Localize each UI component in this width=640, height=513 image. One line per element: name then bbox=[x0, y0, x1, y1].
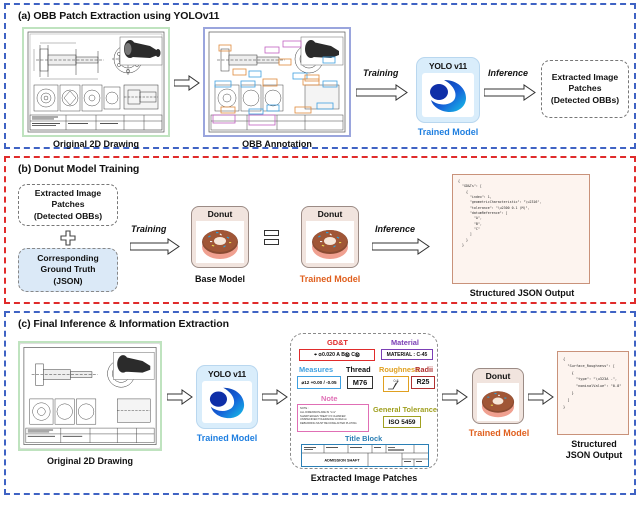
patch-label-title-block: Title Block bbox=[345, 434, 382, 443]
patch-value-measures: ⌀12 +0.00 / -0.05 bbox=[297, 376, 341, 389]
extracted-patches-line3: (Detected OBBs) bbox=[551, 95, 619, 106]
extracted-patches-container: GD&T ⌖ ⌀0.020 A BⓂ CⓂ Material MATERIAL … bbox=[290, 333, 438, 469]
equals-icon bbox=[264, 230, 279, 245]
panel-a: (a) OBB Patch Extraction using YOLOv11 bbox=[4, 3, 636, 149]
caption-extracted-patches: Extracted Image Patches bbox=[284, 473, 444, 483]
input-patches-box-b: Extracted Image Patches (Detected OBBs) bbox=[18, 184, 118, 226]
caption-json-output-b: Structured JSON Output bbox=[446, 288, 598, 298]
patch-value-note: NOTE : ALL DIMENSION ARE IN "mm" SHARP E… bbox=[297, 404, 369, 432]
yolo-logo-a bbox=[422, 73, 474, 117]
arrow-inference-b bbox=[372, 238, 430, 255]
caption-original-drawing-a: Original 2D Drawing bbox=[22, 139, 170, 149]
drawing-svg-c bbox=[20, 343, 160, 449]
donut-icon-trained bbox=[308, 223, 352, 261]
arrow-drawing-to-annotation bbox=[174, 75, 200, 91]
label-training-b: Training bbox=[131, 224, 166, 234]
donut-model-card-c: Donut bbox=[472, 368, 524, 424]
patch-value-radii: R25 bbox=[411, 376, 435, 389]
yolo-logo-c bbox=[202, 381, 252, 423]
patch-label-material: Material bbox=[391, 338, 419, 347]
patch-label-thread: Thread bbox=[346, 365, 371, 374]
caption-trained-model-a: Trained Model bbox=[412, 127, 484, 137]
extracted-patches-line1: Extracted Image bbox=[552, 72, 618, 83]
patch-label-gdt: GD&T bbox=[327, 338, 348, 347]
extracted-patches-line2: Patches bbox=[569, 83, 602, 94]
input-patches-line3: (Detected OBBs) bbox=[34, 211, 102, 222]
patch-label-roughness: Roughness bbox=[379, 365, 419, 374]
label-inference-b: Inference bbox=[375, 224, 415, 234]
roughness-symbol-icon: 0.8 bbox=[384, 377, 408, 391]
donut-trained-model-card: Donut bbox=[301, 206, 359, 268]
patch-label-radii: Radii bbox=[415, 365, 433, 374]
title-block-svg: ADMISSION SHAFT bbox=[302, 445, 428, 466]
input-patches-line1: Extracted Image bbox=[35, 188, 101, 199]
panel-c-title: (c) Final Inference & Information Extrac… bbox=[18, 318, 229, 330]
patch-value-roughness: 0.8 bbox=[383, 376, 409, 392]
note-text: NOTE : ALL DIMENSION ARE IN "mm" SHARP E… bbox=[300, 407, 366, 426]
caption-json-output-c-line2: JSON Output bbox=[554, 450, 634, 460]
arrow-training-b bbox=[130, 238, 180, 255]
donut-base-label: Donut bbox=[208, 209, 233, 219]
label-inference-a: Inference bbox=[488, 68, 528, 78]
json-output-box-b: { "GD&Ts": [ { "index": 1, "geometricCha… bbox=[452, 174, 590, 284]
caption-obb-annotation: OBB Annotation bbox=[203, 139, 351, 149]
annotation-svg bbox=[205, 29, 349, 135]
caption-donut-trained-c: Trained Model bbox=[466, 428, 532, 438]
patch-label-general-tolerance: General Tolerance bbox=[373, 405, 437, 414]
original-drawing-thumbnail-c bbox=[18, 341, 162, 451]
original-drawing-thumbnail-a bbox=[22, 27, 170, 137]
caption-trained-model-c: Trained Model bbox=[190, 433, 264, 443]
arrow-patches-to-donut bbox=[442, 389, 468, 405]
ground-truth-line1: Corresponding bbox=[37, 253, 99, 264]
extracted-patches-box-a: Extracted Image Patches (Detected OBBs) bbox=[541, 60, 629, 118]
donut-base-image bbox=[196, 221, 244, 263]
json-output-box-c: { "Surface_Roughness": [ { "type": "\u32… bbox=[557, 351, 629, 435]
yolo-model-label-a: YOLO v11 bbox=[429, 61, 467, 71]
ground-truth-line3: (JSON) bbox=[53, 276, 82, 287]
yolo-model-label-c: YOLO v11 bbox=[208, 369, 246, 379]
arrow-inference-a bbox=[484, 84, 536, 101]
donut-base-model-card: Donut bbox=[191, 206, 249, 268]
figure-root: (a) OBB Patch Extraction using YOLOv11 bbox=[0, 0, 640, 513]
patch-value-gdt: ⌖ ⌀0.020 A BⓂ CⓂ bbox=[299, 349, 375, 361]
donut-trained-image bbox=[306, 221, 354, 263]
patch-value-thread: M76 bbox=[347, 376, 373, 389]
caption-json-output-c-line1: Structured bbox=[554, 439, 634, 449]
plus-icon bbox=[60, 230, 76, 246]
yolo-logo-svg-c bbox=[204, 383, 250, 421]
donut-trained-label: Donut bbox=[318, 209, 343, 219]
panel-b: (b) Donut Model Training Extracted Image… bbox=[4, 156, 636, 304]
donut-icon-c bbox=[478, 385, 518, 419]
yolo-logo-svg-a bbox=[424, 75, 472, 115]
ground-truth-box-b: Corresponding Ground Truth (JSON) bbox=[18, 248, 118, 292]
arrow-donut-to-json bbox=[528, 389, 554, 405]
patch-label-measures: Measures bbox=[299, 365, 333, 374]
caption-base-model: Base Model bbox=[186, 274, 254, 284]
drawing-svg-a bbox=[24, 29, 168, 135]
donut-image-c bbox=[477, 383, 519, 421]
arrow-drawing-to-yolo-c bbox=[167, 389, 193, 405]
patch-value-title-block: ADMISSION SHAFT bbox=[301, 444, 429, 467]
patch-label-note: Note bbox=[321, 394, 337, 403]
label-training-a: Training bbox=[363, 68, 398, 78]
patch-value-general-tolerance: ISO 5459 bbox=[383, 416, 421, 428]
panel-b-title: (b) Donut Model Training bbox=[18, 163, 139, 175]
ground-truth-line2: Ground Truth bbox=[41, 264, 96, 275]
patch-value-material: MATERIAL : C-45 bbox=[381, 349, 433, 360]
yolo-model-card-c: YOLO v11 bbox=[196, 365, 258, 429]
donut-icon-base bbox=[198, 223, 242, 261]
yolo-model-card-a: YOLO v11 bbox=[416, 57, 480, 123]
caption-original-drawing-c: Original 2D Drawing bbox=[18, 456, 162, 466]
donut-label-c: Donut bbox=[486, 371, 511, 381]
title-block-part-name: ADMISSION SHAFT bbox=[324, 459, 360, 463]
panel-a-title: (a) OBB Patch Extraction using YOLOv11 bbox=[18, 10, 219, 22]
arrow-yolo-to-patches bbox=[262, 389, 288, 405]
input-patches-line2: Patches bbox=[52, 199, 85, 210]
obb-annotation-thumbnail bbox=[203, 27, 351, 137]
panel-c: (c) Final Inference & Information Extrac… bbox=[4, 311, 636, 495]
arrow-training-a bbox=[356, 84, 408, 101]
caption-trained-model-b: Trained Model bbox=[294, 274, 366, 284]
